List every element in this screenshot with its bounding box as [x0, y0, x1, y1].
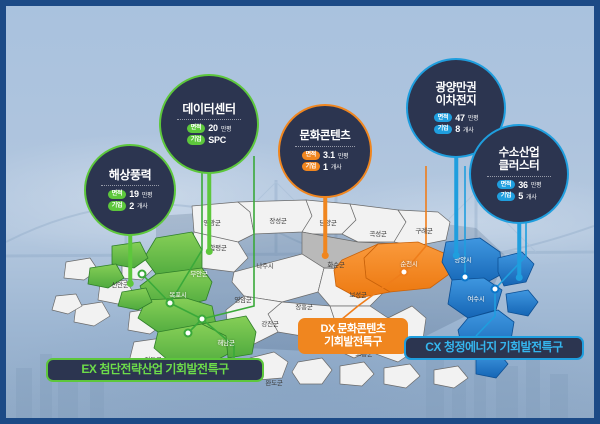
callout-title-gwangyang-line2: 이차전지 [436, 95, 477, 108]
stat-value-area: 47 [455, 113, 465, 123]
callout-culture-contents[interactable]: 문화콘텐츠 면적 3.1 만평 기업 1 개사 [278, 104, 372, 198]
stat-unit-area: 만평 [338, 151, 348, 160]
callout-title-hydrogen-line2: 클러스터 [499, 160, 540, 173]
stat-value-area: 3.1 [323, 150, 335, 160]
region-label: 곡성군 [369, 228, 386, 238]
banner-ex-text: 첨단전략산업 기회발전특구 [99, 363, 228, 377]
region-label: 담양군 [319, 217, 336, 227]
callout-stat-row: 면적 36 만평 [497, 180, 542, 190]
stat-unit-company: 개사 [137, 201, 147, 210]
callout-stat-row: 면적 47 만평 [434, 113, 479, 123]
stat-unit-area: 만평 [221, 124, 231, 133]
callout-stat-row: 기업 2 개사 [108, 201, 153, 211]
region-label: 여수시 [467, 293, 484, 303]
callout-title-culture-contents: 문화콘텐츠 [300, 130, 351, 143]
banner-dx-line1: DX 문화콘텐츠 [321, 323, 386, 336]
region-label: 강진군 [261, 318, 278, 328]
marker-mokpo[interactable] [166, 299, 175, 308]
stat-value-area: 20 [208, 123, 218, 133]
stat-tag-company: 기업 [434, 125, 452, 134]
callout-divider [177, 119, 240, 120]
callout-stats-offshore-wind: 면적 19 만평 기업 2 개사 [108, 189, 153, 211]
region-label: 장성군 [269, 215, 286, 225]
callout-bubble-culture-contents: 문화콘텐츠 면적 3.1 만평 기업 1 개사 [278, 104, 372, 198]
poster-frame: 영광군장성군담양군곡성군구례군함평군나주시화순군순천시광양시무안군신안군목포시영… [0, 0, 600, 424]
banner-cx-lead: CX [425, 341, 441, 355]
stat-unit-area: 만평 [468, 113, 478, 122]
region-label: 나주시 [256, 260, 273, 270]
callout-stats-culture-contents: 면적 3.1 만평 기업 1 개사 [302, 150, 349, 172]
callout-stem-culture-contents [323, 192, 327, 256]
banner-cx-text: 청정에너지 기회발전특구 [444, 341, 563, 355]
callout-stat-row: 기업 1 개사 [302, 162, 349, 172]
callout-stat-row: 기업 SPC [187, 135, 232, 145]
callout-stat-row: 면적 19 만평 [108, 189, 153, 199]
stat-tag-area: 면적 [497, 180, 515, 189]
stat-value-company: 8 [455, 124, 460, 134]
callout-divider [487, 176, 550, 177]
marker-haenam-north[interactable] [198, 315, 207, 324]
stat-unit-company: 개사 [526, 192, 536, 201]
banner-dx-line2: 기회발전특구 [324, 336, 382, 349]
region-label: 목포시 [169, 289, 186, 299]
callout-stat-row: 기업 5 개사 [497, 191, 542, 201]
callout-title-offshore-wind: 해상풍력 [109, 169, 152, 182]
stat-unit-company: 개사 [331, 162, 341, 171]
stat-tag-area: 면적 [187, 124, 205, 133]
region-label: 영암군 [234, 294, 251, 304]
callout-hydrogen-industry-cluster[interactable]: 수소산업 클러스터 면적 36 만평 기업 5 개사 [469, 124, 569, 224]
callout-bubble-data-center: 데이터센터 면적 20 만평 기업 SPC [159, 74, 259, 174]
marker-yeosu[interactable] [491, 285, 500, 294]
region-label: 구례군 [415, 225, 432, 235]
stat-value-area: 19 [129, 189, 139, 199]
region-label: 장흥군 [295, 301, 312, 311]
callout-stats-data-center: 면적 20 만평 기업 SPC [187, 123, 232, 145]
marker-gwangyang[interactable] [461, 273, 470, 282]
region-label: 해남군 [217, 337, 234, 347]
region-label: 완도군 [265, 377, 282, 387]
region-label: 보성군 [349, 289, 366, 299]
callout-title-data-center: 데이터센터 [182, 103, 235, 116]
marker-yeonggwang[interactable] [184, 329, 193, 338]
callout-data-center[interactable]: 데이터센터 면적 20 만평 기업 SPC [159, 74, 259, 174]
region-label: 순천시 [400, 258, 417, 268]
region-label: 무안군 [190, 268, 207, 278]
stat-tag-company: 기업 [302, 162, 320, 171]
region-label: 영광군 [203, 217, 220, 227]
callout-stem-offshore-wind [128, 228, 132, 284]
callout-bubble-hydrogen: 수소산업 클러스터 면적 36 만평 기업 5 개사 [469, 124, 569, 224]
infographic-stage: 영광군장성군담양군곡성군구례군함평군나주시화순군순천시광양시무안군신안군목포시영… [6, 6, 594, 418]
stat-tag-company: 기업 [108, 201, 126, 210]
callout-title-hydrogen-line1: 수소산업 [499, 147, 540, 160]
banner-cx-clean-energy[interactable]: CX 청정에너지 기회발전특구 [404, 336, 584, 360]
callout-stats-hydrogen: 면적 36 만평 기업 5 개사 [497, 180, 542, 202]
marker-sinan-coast[interactable] [138, 270, 147, 279]
banner-ex-lead: EX [81, 363, 96, 377]
callout-stem-hydrogen [517, 218, 521, 278]
callout-stat-row: 면적 20 만평 [187, 123, 232, 133]
callout-divider [295, 146, 354, 147]
stat-unit-area: 만평 [531, 180, 541, 189]
stat-value-company: 1 [323, 162, 328, 172]
banner-ex-advanced-strategic-industry[interactable]: EX 첨단전략산업 기회발전특구 [46, 358, 264, 382]
stat-tag-company: 기업 [187, 135, 205, 144]
stat-unit-area: 만평 [142, 190, 152, 199]
callout-stat-row: 면적 3.1 만평 [302, 150, 349, 160]
region-label: 화순군 [327, 259, 344, 269]
callout-stem-data-center [207, 168, 211, 252]
marker-suncheon[interactable] [400, 268, 409, 277]
stat-tag-area: 면적 [434, 113, 452, 122]
stat-value-area: 36 [518, 180, 528, 190]
banner-dx-culture-contents[interactable]: DX 문화콘텐츠 기회발전특구 [298, 318, 408, 354]
stat-value-company: 2 [129, 201, 134, 211]
stat-tag-area: 면적 [302, 151, 320, 160]
stat-tag-company: 기업 [497, 192, 515, 201]
stat-value-company: SPC [208, 135, 226, 145]
callout-stem-gwangyang [454, 152, 458, 256]
stat-tag-area: 면적 [108, 190, 126, 199]
callout-title-gwangyang-line1: 광양만권 [436, 82, 477, 95]
callout-divider [101, 185, 159, 186]
stat-value-company: 5 [518, 191, 523, 201]
